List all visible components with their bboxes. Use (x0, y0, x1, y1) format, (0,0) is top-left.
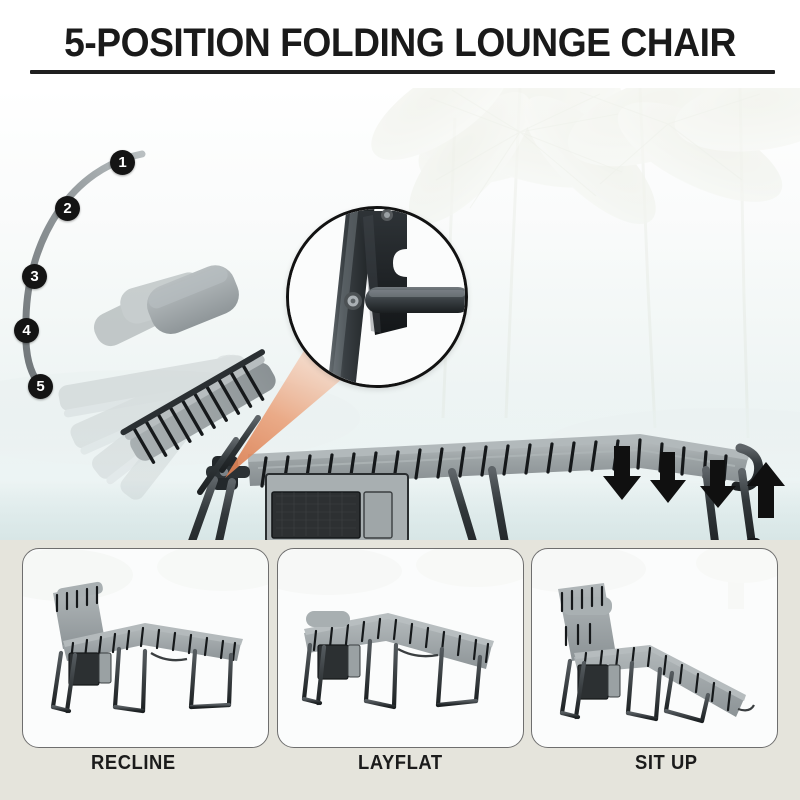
position-badge-4: 4 (14, 318, 39, 343)
variant-labels: RECLINE LAYFLAT SIT UP (0, 752, 800, 792)
variant-card-situp[interactable] (531, 548, 778, 748)
page-title: 5-POSITION FOLDING LOUNGE CHAIR (28, 20, 772, 66)
position-badge-5: 5 (28, 374, 53, 399)
chair-recline (23, 549, 268, 747)
chair-layflat (278, 549, 523, 747)
header: 5-POSITION FOLDING LOUNGE CHAIR (0, 0, 800, 92)
position-badge-1: 1 (110, 150, 135, 175)
hinge-detail-callout (286, 206, 468, 388)
title-underline (30, 70, 775, 74)
label-situp: SIT UP (544, 752, 789, 792)
label-layflat: LAYFLAT (277, 752, 522, 792)
position-badge-2: 2 (55, 196, 80, 221)
chair-situp (532, 549, 777, 747)
position-badge-3: 3 (22, 264, 47, 289)
infographic-page: 5-POSITION FOLDING LOUNGE CHAIR (0, 0, 800, 800)
variant-card-layflat[interactable] (277, 548, 524, 748)
variant-cards (0, 548, 800, 748)
label-recline: RECLINE (11, 752, 256, 792)
variant-card-recline[interactable] (22, 548, 269, 748)
